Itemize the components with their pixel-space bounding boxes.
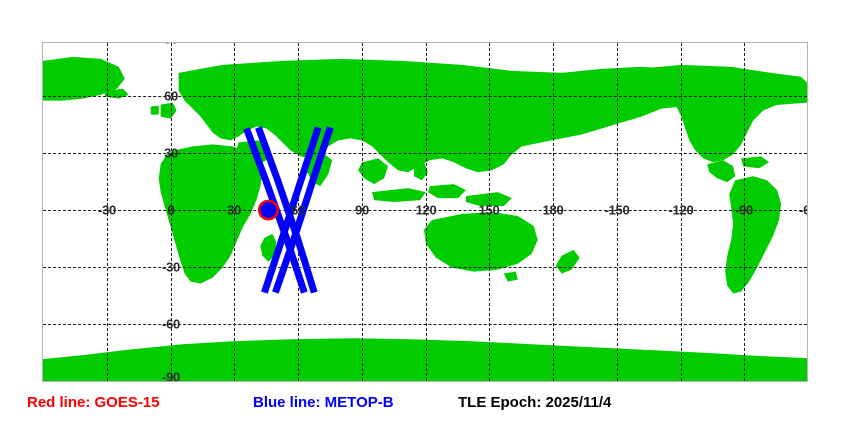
legend-red-line-goes15: Red line: GOES-15 [27, 392, 160, 414]
map-legend: Red line: GOES-15 Blue line: METOP-B TLE… [0, 392, 850, 425]
satellite-track-layer [43, 43, 807, 381]
metop-b-pass-4 [275, 128, 330, 293]
legend-tle-epoch: TLE Epoch: 2025/11/4 [458, 392, 611, 414]
ground-track-figure: -30 0 30 60 90 120 150 180 -150 -120 -90… [0, 0, 850, 425]
world-map-plot: -30 0 30 60 90 120 150 180 -150 -120 -90… [42, 42, 808, 382]
metop-b-position-marker [260, 202, 276, 218]
legend-blue-line-metop-b: Blue line: METOP-B [253, 392, 394, 414]
